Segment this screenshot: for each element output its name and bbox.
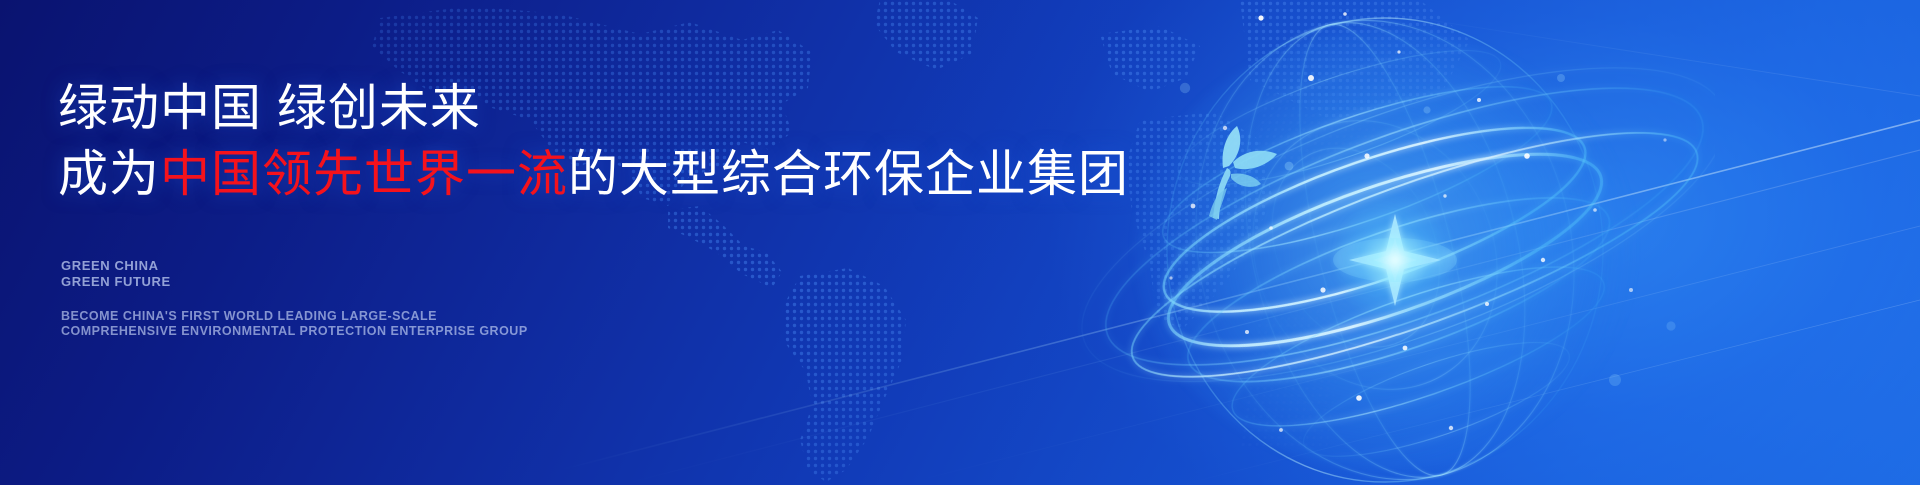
- headline-line-1: 绿动中国 绿创未来: [58, 80, 481, 136]
- core-flare-icon: [1333, 214, 1457, 306]
- globe-wireframe-svg: [1075, 0, 1715, 485]
- sprout-icon: [1209, 126, 1277, 220]
- slogan-english-line-1: GREEN CHINA: [61, 258, 159, 273]
- hero-banner: 绿动中国 绿创未来 成为中国领先世界一流的大型综合环保企业集团 GREEN CH…: [0, 0, 1920, 485]
- headline-line-2-suffix: 的大型综合环保企业集团: [568, 146, 1129, 202]
- description-english-line-1: BECOME CHINA'S FIRST WORLD LEADING LARGE…: [61, 309, 528, 324]
- headline-line-2-highlight: 中国领先世界一流: [160, 146, 568, 202]
- description-english: BECOME CHINA'S FIRST WORLD LEADING LARGE…: [61, 309, 528, 339]
- wireframe-globe-icon: [1075, 0, 1715, 485]
- description-english-line-2: COMPREHENSIVE ENVIRONMENTAL PROTECTION E…: [61, 324, 528, 339]
- globe-ambient-glow: [1135, 30, 1635, 470]
- headline: 绿动中国 绿创未来 成为中国领先世界一流的大型综合环保企业集团: [58, 76, 1129, 206]
- globe-core-glow: [1330, 195, 1460, 325]
- banner-copy: 绿动中国 绿创未来 成为中国领先世界一流的大型综合环保企业集团 GREEN CH…: [58, 0, 1058, 485]
- headline-line-2: 成为中国领先世界一流的大型综合环保企业集团: [58, 142, 1129, 206]
- slogan-english-line-2: GREEN FUTURE: [61, 274, 171, 289]
- headline-line-2-prefix: 成为: [58, 146, 160, 202]
- sparkle-particles: [1075, 0, 1715, 485]
- slogan-english: GREEN CHINA GREEN FUTURE: [61, 258, 171, 290]
